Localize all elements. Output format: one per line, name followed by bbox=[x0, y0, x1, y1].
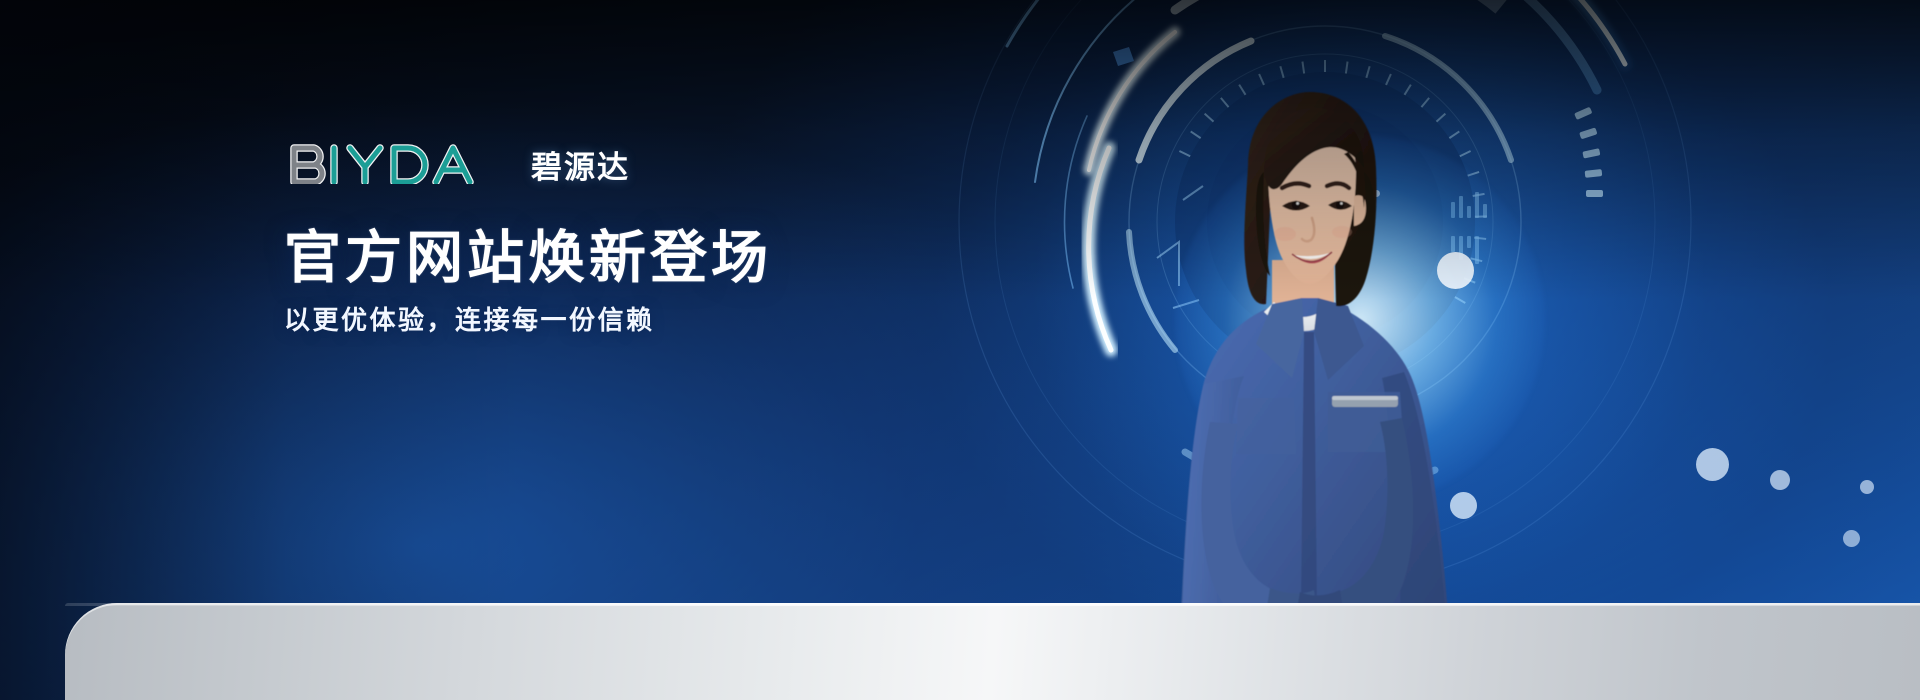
page-subtitle: 以更优体验，连接每一份信赖 bbox=[284, 305, 1044, 336]
bokeh-dot bbox=[1316, 540, 1329, 553]
biyda-logo-icon bbox=[284, 140, 517, 184]
brand-logo[interactable]: 碧源达 bbox=[284, 140, 1044, 184]
bokeh-ring-dot bbox=[1208, 466, 1219, 477]
bokeh-dot bbox=[1300, 436, 1308, 444]
bokeh-dot bbox=[1318, 400, 1328, 410]
bokeh-dot bbox=[1278, 470, 1285, 477]
hud-outer-glow bbox=[1030, 0, 1710, 630]
bokeh-dot bbox=[1437, 252, 1474, 289]
bokeh-dot bbox=[1346, 542, 1357, 553]
bokeh-dot bbox=[1450, 492, 1477, 519]
page-title: 官方网站焕新登场 bbox=[284, 228, 1044, 288]
bokeh-dot bbox=[1306, 476, 1320, 490]
brand-logo-cn-text: 碧源达 bbox=[531, 152, 630, 184]
hero-content: 碧源达 官方网站焕新登场 以更优体验，连接每一份信赖 bbox=[284, 140, 1044, 337]
bokeh-dot bbox=[1696, 448, 1729, 481]
bokeh-dot bbox=[1770, 470, 1790, 490]
bokeh-dot bbox=[1860, 480, 1874, 494]
hero-banner: 碧源达 官方网站焕新登场 以更优体验，连接每一份信赖 bbox=[0, 0, 1920, 700]
left-vignette bbox=[0, 0, 520, 700]
bokeh-dot bbox=[1373, 190, 1380, 197]
hud-core-glow bbox=[1175, 135, 1545, 505]
bokeh-dot bbox=[1843, 530, 1860, 547]
bokeh-dot bbox=[1340, 488, 1351, 499]
bokeh-ring-dot bbox=[1233, 468, 1242, 477]
silver-bottom-panel bbox=[65, 603, 1920, 700]
tech-hud-ring-graphic bbox=[955, 0, 1695, 590]
